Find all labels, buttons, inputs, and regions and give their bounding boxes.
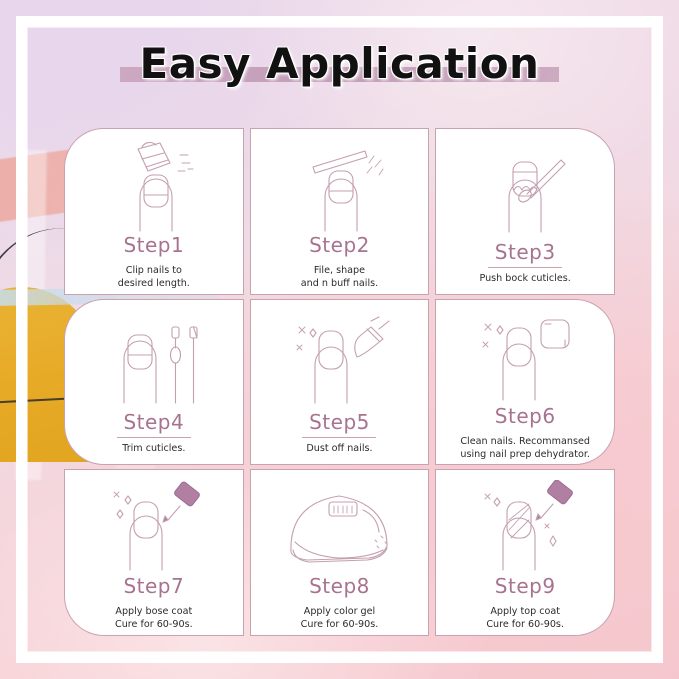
step-3-illustration [444,139,606,242]
cleaning-wipe-icon [469,310,581,406]
poster-root: Easy Application Step1 Clip nails [0,0,679,679]
step-7-illustration [73,480,235,576]
step-9-illustration [444,480,606,576]
step-description: Trim cuticles. [122,443,185,456]
step-label: Step6 [495,406,556,426]
step-card-3[interactable]: Step3 Push bock cuticles. [435,128,615,295]
cuticle-trimmer-icon [98,313,210,409]
step-label: Step2 [309,235,370,255]
step-card-6[interactable]: Step6 Clean nails. Recommansed using nai… [435,299,615,466]
page-title: Easy Application [140,39,540,88]
step-description: Clip nails to desired length. [118,265,190,291]
step-1-illustration [73,139,235,235]
nail-clipper-icon [98,139,210,235]
step-description: Apply bose coat Cure for 60-90s. [115,606,193,632]
dust-brush-icon [283,313,395,409]
step-description: Push bock cuticles. [479,273,570,286]
step-label: Step7 [123,576,184,596]
step-card-2[interactable]: Step2 File, shape and n buff nails. [250,128,430,295]
step-label: Step9 [495,576,556,596]
step-label: Step3 [495,242,556,262]
step-5-illustration [259,310,421,413]
step-card-8[interactable]: Step8 Apply color gel Cure for 60-90s. [250,469,430,636]
step-card-7[interactable]: Step7 Apply bose coat Cure for 60-90s. [64,469,244,636]
step-label: Step4 [123,412,184,432]
step-description: Dust off nails. [306,443,372,456]
page-title-area: Easy Application [0,34,679,92]
step-2-illustration [259,139,421,235]
steps-grid: Step1 Clip nails to desired length. Step… [64,128,615,636]
step-description: Clean nails. Recommansed using nail prep… [460,436,590,462]
step-rule [302,437,376,438]
cuticle-pusher-icon [469,142,581,238]
base-coat-brush-icon [98,480,210,576]
nail-file-icon [283,139,395,235]
top-coat-brush-icon [469,480,581,576]
step-description: File, shape and n buff nails. [301,265,378,291]
step-4-illustration [73,310,235,413]
step-card-5[interactable]: Step5 Dust off nails. [250,299,430,466]
step-card-1[interactable]: Step1 Clip nails to desired length. [64,128,244,295]
step-description: Apply color gel Cure for 60-90s. [301,606,379,632]
step-card-4[interactable]: Step4 Trim cuticles. [64,299,244,466]
uv-lamp-icon [277,480,401,576]
step-rule [488,267,562,268]
step-rule [117,437,191,438]
step-label: Step1 [123,235,184,255]
step-6-illustration [444,310,606,406]
step-label: Step8 [309,576,370,596]
step-8-illustration [259,480,421,576]
step-description: Apply top coat Cure for 60-90s. [486,606,564,632]
step-label: Step5 [309,412,370,432]
step-card-9[interactable]: Step9 Apply top coat Cure for 60-90s. [435,469,615,636]
